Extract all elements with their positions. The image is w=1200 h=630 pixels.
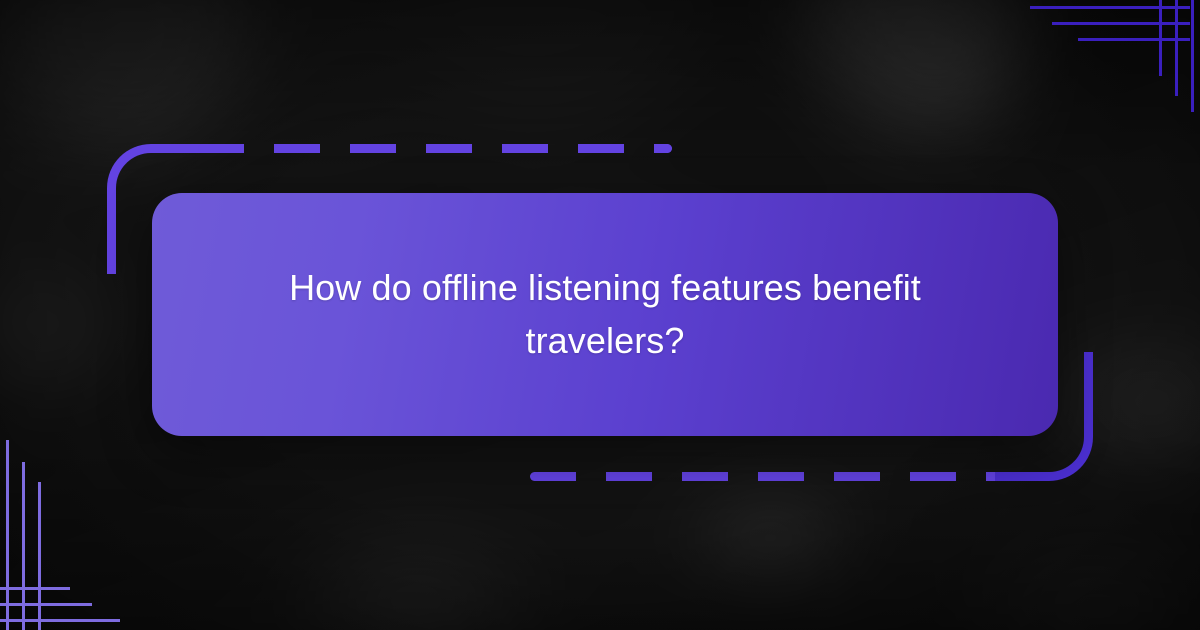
question-text: How do offline listening features benefi… — [260, 262, 950, 366]
screenshot-canvas: How do offline listening features benefi… — [0, 0, 1200, 630]
bracket-line-h1 — [1030, 6, 1190, 9]
corner-bracket-bottom-left — [0, 430, 140, 630]
bracket-line-v1 — [6, 440, 9, 630]
dashed-frame-bottom-segment — [530, 472, 1000, 481]
bracket-line-v2 — [22, 462, 25, 630]
question-card: How do offline listening features benefi… — [152, 193, 1058, 436]
bracket-line-v1 — [1191, 0, 1194, 112]
bracket-line-h1 — [0, 619, 120, 622]
bracket-line-v3 — [1159, 0, 1162, 76]
corner-bracket-top-right — [1030, 0, 1200, 120]
dashed-frame-top-segment — [198, 144, 672, 153]
bracket-line-h3 — [1078, 38, 1190, 41]
bracket-line-v2 — [1175, 0, 1178, 96]
bracket-line-v3 — [38, 482, 41, 630]
bracket-line-h2 — [1052, 22, 1190, 25]
bracket-line-h2 — [0, 603, 92, 606]
bracket-line-h3 — [0, 587, 70, 590]
